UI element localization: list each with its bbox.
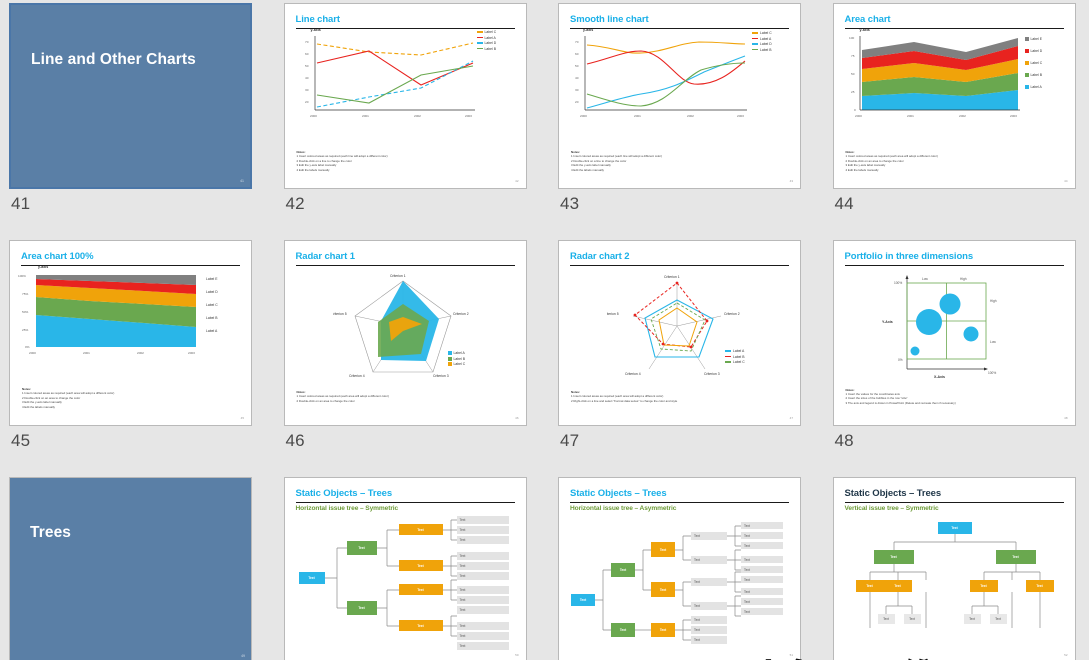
title-rule xyxy=(845,28,1064,29)
node-label: Text xyxy=(460,538,466,542)
tree-node-leaf[interactable]: Text xyxy=(904,614,921,624)
node-label: Text xyxy=(417,588,423,592)
y-axis-label: y-axis xyxy=(311,28,321,32)
node-label: Text xyxy=(951,526,957,530)
slide-page-marker: 41 xyxy=(240,179,244,183)
tree-node-leaf[interactable]: Text xyxy=(691,636,727,644)
svg-text:2001: 2001 xyxy=(634,114,641,118)
node-label: Text xyxy=(894,584,900,588)
svg-text:Criterion 4: Criterion 4 xyxy=(349,374,365,378)
smooth-line-chart-slide: Smooth line chart y-axis 70 60 50 4 xyxy=(559,4,800,188)
node-label: Text xyxy=(744,544,750,548)
svg-text:2001: 2001 xyxy=(83,351,90,355)
legend-item: Label B xyxy=(725,355,745,359)
tree-node-level2[interactable]: Text xyxy=(611,563,635,577)
title-rule xyxy=(21,265,240,266)
node-label: Text xyxy=(744,578,750,582)
svg-text:X-Axis: X-Axis xyxy=(934,375,945,379)
tree-node-leaf[interactable]: Text xyxy=(741,598,783,605)
slide-thumbnail-50[interactable]: Static Objects – Trees Horizontal issue … xyxy=(284,477,527,660)
node-label: Text xyxy=(460,598,466,602)
node-label: Text xyxy=(694,628,700,632)
legend-label: Label D xyxy=(1031,49,1043,53)
legend-item: Label A xyxy=(206,329,218,333)
node-label: Text xyxy=(1036,584,1042,588)
node-label: Text xyxy=(460,588,466,592)
notes-line: 1 Insert colored areas as required (each… xyxy=(297,394,389,399)
node-label: Text xyxy=(580,598,586,602)
tree-node-leaf[interactable]: Text xyxy=(691,616,727,624)
node-label: Text xyxy=(909,617,915,621)
legend-item: Label B xyxy=(477,47,497,51)
svg-text:2002: 2002 xyxy=(414,114,421,118)
slide-page-marker: 48 xyxy=(1064,416,1067,420)
node-label: Text xyxy=(969,617,975,621)
legend-swatch-label-b xyxy=(448,357,452,361)
svg-text:50%: 50% xyxy=(22,310,28,314)
svg-text:100%: 100% xyxy=(18,274,26,278)
svg-text:2001: 2001 xyxy=(907,114,914,118)
node-label: Text xyxy=(660,588,666,592)
tree-node-leaf[interactable]: Text xyxy=(457,516,509,524)
slide-cell-47[interactable]: Radar chart 2 Criterion 1 Crit xyxy=(558,240,806,472)
slide-notes: Notes: 1 Insert colored areas as require… xyxy=(297,390,389,403)
tree-node-level4[interactable]: Text xyxy=(691,578,727,586)
title-rule xyxy=(845,265,1064,266)
node-label: Text xyxy=(744,600,750,604)
svg-text:100: 100 xyxy=(849,36,854,40)
tree-node-level3[interactable]: Text xyxy=(399,620,443,631)
svg-text:60: 60 xyxy=(575,52,579,56)
title-rule xyxy=(296,28,515,29)
legend-swatch-label-c xyxy=(1025,61,1029,65)
tree-node-leaf[interactable]: Text xyxy=(964,614,981,624)
tree-node-root[interactable]: Text xyxy=(571,594,595,606)
notes-line: 4 Edit the labels manually xyxy=(297,168,388,173)
notes-line: 2 Right-click on a line and select "Form… xyxy=(571,399,677,404)
node-label: Text xyxy=(660,548,666,552)
tree-node-level3[interactable]: Text xyxy=(651,623,675,637)
tree-node-leaf[interactable]: Text xyxy=(691,626,727,634)
svg-text:Criterion 4: Criterion 4 xyxy=(625,372,641,376)
tree-node-leaf[interactable]: Text xyxy=(457,632,509,640)
slide-number-label: 46 xyxy=(286,431,532,451)
notes-line: 2 Double-click on an area to change the … xyxy=(297,399,389,404)
tree-node-leaf[interactable]: Text xyxy=(741,556,783,563)
line-chart-slide: Line chart y-axis 70 60 50 40 xyxy=(285,4,526,188)
svg-text:Criterion 3: Criterion 3 xyxy=(704,372,720,376)
slide-title: Smooth line chart xyxy=(570,14,789,25)
tree-node-level4[interactable]: Text xyxy=(691,532,727,540)
slide-page-marker: 43 xyxy=(790,179,793,183)
svg-text:60: 60 xyxy=(305,52,309,56)
tree-node-level3[interactable]: Text xyxy=(1026,580,1054,592)
svg-text:40: 40 xyxy=(305,76,309,80)
notes-line: 1 Insert colored areas as required (each… xyxy=(571,154,662,159)
slide-thumbnail-51[interactable]: Static Objects – Trees Horizontal issue … xyxy=(558,477,801,660)
slide-page-marker: 44 xyxy=(1064,179,1067,183)
node-label: Text xyxy=(744,590,750,594)
slide-number-label: 47 xyxy=(560,431,806,451)
slide-cell-51[interactable]: Static Objects – Trees Horizontal issue … xyxy=(558,477,806,660)
slide-cell-43[interactable]: Smooth line chart y-axis 70 60 50 4 xyxy=(558,3,806,235)
svg-text:30: 30 xyxy=(575,88,579,92)
node-label: Text xyxy=(1012,555,1018,559)
slide-cell-48[interactable]: Portfolio in three dimensions Low High xyxy=(833,240,1081,472)
section-divider-slide: Trees 49 xyxy=(10,478,251,660)
tree-node-level3[interactable]: Text xyxy=(399,584,443,595)
legend-item: Label E xyxy=(206,277,218,281)
chart-legend: Label C Label A Label D Label B xyxy=(477,30,497,52)
notes-line: 1 Insert colored areas as required (each… xyxy=(22,391,114,396)
legend-label: Label C xyxy=(206,303,218,307)
tree-node-level3[interactable]: Text xyxy=(856,580,884,592)
legend-item: Label A xyxy=(752,37,772,41)
smooth-line-chart-svg: 70 60 50 40 30 20 2000 2001 2002 2003 xyxy=(569,34,754,124)
slide-thumbnail-47[interactable]: Radar chart 2 Criterion 1 Crit xyxy=(558,240,801,426)
slide-notes: Notes: 1 Insert colored areas as require… xyxy=(846,150,938,172)
node-label: Text xyxy=(620,628,626,632)
svg-text:Criterion 5: Criterion 5 xyxy=(607,312,619,316)
legend-item: Label B xyxy=(448,357,466,361)
legend-label: Label C xyxy=(733,360,745,364)
node-label: Text xyxy=(417,624,423,628)
node-label: Text xyxy=(694,558,700,562)
legend-label: Label B xyxy=(733,355,745,359)
svg-text:40: 40 xyxy=(575,76,579,80)
legend-swatch-label-a xyxy=(477,37,483,38)
tree-node-leaf[interactable]: Text xyxy=(457,536,509,544)
legend-label: Label A xyxy=(206,329,217,333)
legend-item: Label C xyxy=(1025,61,1043,65)
tree-node-level2[interactable]: Text xyxy=(874,550,914,564)
svg-text:2000: 2000 xyxy=(29,351,36,355)
slide-page-marker: 47 xyxy=(790,416,793,420)
area-chart-slide: Area chart y-axis 100 75 50 xyxy=(834,4,1075,188)
tree-node-root[interactable]: Text xyxy=(938,522,972,534)
slide-title: Line and Other Charts xyxy=(31,51,196,69)
legend-item: Label B xyxy=(752,48,772,52)
node-label: Text xyxy=(417,564,423,568)
notes-line: 1 Insert colored areas as required (each… xyxy=(297,154,388,159)
node-label: Text xyxy=(460,624,466,628)
legend-item: Label C xyxy=(752,31,772,35)
svg-text:2003: 2003 xyxy=(737,114,744,118)
line-chart-svg: 70 60 50 40 30 20 2000 2001 2002 2003 xyxy=(299,34,479,124)
node-label: Text xyxy=(358,546,364,550)
slide-thumbnail-48[interactable]: Portfolio in three dimensions Low High xyxy=(833,240,1076,426)
slide-cell-49[interactable]: Trees 49 49 xyxy=(9,477,257,660)
legend-swatch-label-a xyxy=(752,38,758,39)
legend-label: Label C xyxy=(485,30,497,34)
svg-text:50: 50 xyxy=(575,64,579,68)
legend-label: Label C xyxy=(760,31,772,35)
svg-text:2003: 2003 xyxy=(188,351,195,355)
svg-text:100%: 100% xyxy=(988,371,996,375)
node-label: Text xyxy=(744,558,750,562)
tree-node-level3[interactable]: Text xyxy=(399,560,443,571)
slide-title: Portfolio in three dimensions xyxy=(845,251,1064,262)
legend-item: Label A xyxy=(1025,85,1043,89)
node-label: Text xyxy=(358,606,364,610)
node-label: Text xyxy=(744,534,750,538)
node-label: Text xyxy=(460,608,466,612)
legend-swatch-label-b xyxy=(752,49,758,50)
slide-notes: Notes: 1 Insert colored areas as require… xyxy=(571,150,662,172)
legend-label: Label D xyxy=(485,41,497,45)
legend-label: Label D xyxy=(760,42,772,46)
legend-label: Label A xyxy=(1031,85,1042,89)
node-label: Text xyxy=(660,628,666,632)
node-label: Text xyxy=(744,524,750,528)
slide-notes: Notes: 1 Insert colored areas as require… xyxy=(571,390,677,403)
node-label: Text xyxy=(744,568,750,572)
slide-thumbnail-42[interactable]: Line chart y-axis 70 60 50 40 xyxy=(284,3,527,189)
legend-swatch-label-d xyxy=(1025,49,1029,53)
chart-legend: Label A Label B Label C xyxy=(448,351,466,368)
node-label: Text xyxy=(460,528,466,532)
slide-number-label: 43 xyxy=(560,194,806,214)
node-label: Text xyxy=(460,634,466,638)
tree-node-leaf[interactable]: Text xyxy=(457,642,509,650)
node-label: Text xyxy=(866,584,872,588)
tree-vertical-symmetric-slide: Static Objects – Trees Vertical issue tr… xyxy=(834,478,1075,660)
chart-legend: Label E Label D Label C Label B Label A xyxy=(1025,37,1043,91)
svg-text:Criterion 1: Criterion 1 xyxy=(390,274,406,278)
legend-swatch-label-c xyxy=(752,32,758,33)
node-label: Text xyxy=(694,618,700,622)
legend-item: Label C xyxy=(725,360,745,364)
tree-node-leaf[interactable]: Text xyxy=(457,552,509,560)
tree-node-level3[interactable]: Text xyxy=(651,542,675,557)
node-label: Text xyxy=(995,617,1001,621)
legend-item: Label A xyxy=(725,349,745,353)
legend-label: Label D xyxy=(206,290,218,294)
slide-thumbnail-46[interactable]: Radar chart 1 Criterion 1 Criterion 2 Cr… xyxy=(284,240,527,426)
slide-thumbnail-52[interactable]: Static Objects – Trees Vertical issue tr… xyxy=(833,477,1076,660)
legend-item: Label B xyxy=(1025,73,1043,77)
legend-item: Label C xyxy=(206,303,218,307)
legend-swatch-label-a xyxy=(1025,85,1029,89)
slide-cell-41[interactable]: Line and Other Charts 41 41 xyxy=(9,3,257,235)
slide-page-marker: 50 xyxy=(515,653,518,657)
tree-node-leaf[interactable]: Text xyxy=(741,542,783,549)
svg-text:70: 70 xyxy=(305,40,309,44)
svg-text:Criterion 2: Criterion 2 xyxy=(453,312,469,316)
tree-node-root[interactable]: Text xyxy=(299,572,325,584)
portfolio-bubble-slide: Portfolio in three dimensions Low High xyxy=(834,241,1075,425)
tree-node-leaf[interactable]: Text xyxy=(457,596,509,604)
node-label: Text xyxy=(694,604,700,608)
title-rule xyxy=(570,28,789,29)
node-label: Text xyxy=(890,555,896,559)
slide-title: Line chart xyxy=(296,14,515,25)
svg-text:0: 0 xyxy=(854,108,856,112)
slide-thumbnail-44[interactable]: Area chart y-axis 100 75 50 xyxy=(833,3,1076,189)
slide-page-marker: 51 xyxy=(790,653,793,657)
slide-cell-45[interactable]: Area chart 100% y-axis 100% 75% 50% 25% xyxy=(9,240,257,472)
tree-node-level2[interactable]: Text xyxy=(347,601,377,615)
svg-text:Criterion 1: Criterion 1 xyxy=(664,275,680,279)
chart-plot-area: y-axis 100 75 50 25 0 2000 xyxy=(844,34,1024,124)
slide-thumbnail-41[interactable]: Line and Other Charts 41 xyxy=(9,3,252,189)
slide-title: Trees xyxy=(30,524,71,542)
legend-label: Label C xyxy=(1031,61,1043,65)
legend-swatch-label-a xyxy=(725,350,731,351)
svg-text:Low: Low xyxy=(990,340,997,344)
chart-plot-area: y-axis 100% 75% 50% 25% 0% 2000 2001 xyxy=(14,271,202,361)
slide-title: Radar chart 2 xyxy=(570,251,789,262)
legend-label: Label B xyxy=(485,47,497,51)
node-label: Text xyxy=(417,528,423,532)
legend-item: Label E xyxy=(1025,37,1043,41)
legend-item: Label D xyxy=(752,42,772,46)
slide-thumbnail-45[interactable]: Area chart 100% y-axis 100% 75% 50% 25% xyxy=(9,240,252,426)
tree-node-leaf[interactable]: Text xyxy=(457,562,509,570)
title-rule xyxy=(296,265,515,266)
tree-node-leaf[interactable]: Text xyxy=(741,566,783,573)
svg-text:2001: 2001 xyxy=(362,114,369,118)
slide-cell-50[interactable]: Static Objects – Trees Horizontal issue … xyxy=(284,477,532,660)
legend-item: Label D xyxy=(477,41,497,45)
svg-text:75%: 75% xyxy=(22,292,28,296)
radar-chart-2-slide: Radar chart 2 Criterion 1 Crit xyxy=(559,241,800,425)
svg-text:0%: 0% xyxy=(25,345,30,349)
area-chart-100-svg: 100% 75% 50% 25% 0% 2000 2001 2002 2003 xyxy=(14,271,202,361)
tree-horizontal-symmetric-slide: Static Objects – Trees Horizontal issue … xyxy=(285,478,526,660)
tree-node-level2[interactable]: Text xyxy=(611,623,635,637)
svg-text:0%: 0% xyxy=(898,358,903,362)
node-label: Text xyxy=(694,534,700,538)
node-label: Text xyxy=(744,610,750,614)
legend-swatch-label-e xyxy=(1025,37,1029,41)
chart-plot-area: y-axis 70 60 50 40 30 20 20 xyxy=(569,34,754,124)
slide-page-marker: 46 xyxy=(515,416,518,420)
radar-chart-1-slide: Radar chart 1 Criterion 1 Criterion 2 Cr… xyxy=(285,241,526,425)
slide-number-label: 45 xyxy=(11,431,257,451)
tree-node-level2[interactable]: Text xyxy=(347,541,377,555)
node-label: Text xyxy=(308,576,314,580)
legend-label: Label C xyxy=(454,362,466,366)
legend-label: Label A xyxy=(733,349,744,353)
svg-text:2002: 2002 xyxy=(137,351,144,355)
slide-thumbnail-43[interactable]: Smooth line chart y-axis 70 60 50 4 xyxy=(558,3,801,189)
tree-node-leaf[interactable]: Text xyxy=(741,608,783,615)
svg-text:20: 20 xyxy=(575,100,579,104)
svg-text:20: 20 xyxy=(305,100,309,104)
tree-node-leaf[interactable]: Text xyxy=(457,586,509,594)
legend-label: Label B xyxy=(206,316,218,320)
notes-line: 1 Insert colored areas as required (each… xyxy=(571,394,677,399)
section-divider-slide: Line and Other Charts 41 xyxy=(11,5,250,187)
chart-legend: Label E Label D Label C Label B Label A xyxy=(206,277,218,335)
title-rule xyxy=(570,265,789,266)
svg-text:2000: 2000 xyxy=(580,114,587,118)
svg-text:100%: 100% xyxy=(894,281,902,285)
node-label: Text xyxy=(980,584,986,588)
node-label: Text xyxy=(460,574,466,578)
node-label: Text xyxy=(883,617,889,621)
node-label: Text xyxy=(694,638,700,642)
svg-text:30: 30 xyxy=(305,88,309,92)
tree-node-level3[interactable]: Text xyxy=(399,524,443,535)
svg-text:2000: 2000 xyxy=(855,114,862,118)
area-chart-svg: 100 75 50 25 0 2000 2001 2002 2003 xyxy=(844,34,1024,124)
tree-node-leaf[interactable]: Text xyxy=(741,588,783,595)
node-label: Text xyxy=(460,518,466,522)
slide-notes: Notes: 1 Insert colored areas as require… xyxy=(297,150,388,172)
tree-node-leaf[interactable]: Text xyxy=(457,606,509,614)
slide-cell-44[interactable]: Area chart y-axis 100 75 50 xyxy=(833,3,1081,235)
slide-cell-46[interactable]: Radar chart 1 Criterion 1 Criterion 2 Cr… xyxy=(284,240,532,472)
svg-text:2003: 2003 xyxy=(1010,114,1017,118)
svg-text:Y-Axis: Y-Axis xyxy=(882,320,893,324)
slide-title: Area chart xyxy=(845,14,1064,25)
legend-item: Label A xyxy=(448,351,466,355)
tree-node-leaf[interactable]: Text xyxy=(457,526,509,534)
legend-label: Label E xyxy=(206,277,218,281)
legend-swatch-label-b xyxy=(477,48,483,49)
slide-cell-52[interactable]: Static Objects – Trees Vertical issue tr… xyxy=(833,477,1081,660)
tree-node-leaf[interactable]: Text xyxy=(457,622,509,630)
tree-node-level3[interactable]: Text xyxy=(651,582,675,597)
legend-swatch-label-c xyxy=(477,31,483,32)
svg-text:Criterion 2: Criterion 2 xyxy=(724,312,740,316)
legend-swatch-label-c xyxy=(448,362,452,366)
legend-swatch-label-d xyxy=(477,42,483,43)
y-axis-label: y-axis xyxy=(860,28,870,32)
svg-text:Criterion 3: Criterion 3 xyxy=(433,374,449,378)
node-label: Text xyxy=(460,554,466,558)
tree-node-level4[interactable]: Text xyxy=(691,556,727,564)
tree-node-leaf[interactable]: Text xyxy=(457,572,509,580)
slide-page-marker: 52 xyxy=(1064,653,1067,657)
tree-node-level4[interactable]: Text xyxy=(691,602,727,610)
slide-number-label: 42 xyxy=(286,194,532,214)
tree-node-level2[interactable]: Text xyxy=(996,550,1036,564)
tree-node-leaf[interactable]: Text xyxy=(741,532,783,539)
notes-line: 3 The axis and legend is drawn in PowerP… xyxy=(846,401,956,406)
slide-number-label: 44 xyxy=(835,194,1081,214)
slide-cell-42[interactable]: Line chart y-axis 70 60 50 40 xyxy=(284,3,532,235)
tree-node-leaf[interactable]: Text xyxy=(990,614,1007,624)
svg-text:70: 70 xyxy=(575,40,579,44)
legend-label: Label E xyxy=(1031,37,1043,41)
tree-node-leaf[interactable]: Text xyxy=(741,576,783,583)
slide-page-marker: 49 xyxy=(241,654,245,658)
slide-number-label: 48 xyxy=(835,431,1081,451)
tree-node-level3[interactable]: Text xyxy=(970,580,998,592)
svg-text:High: High xyxy=(960,277,967,281)
tree-node-level3[interactable]: Text xyxy=(884,580,912,592)
node-label: Text xyxy=(460,644,466,648)
slide-thumbnail-49[interactable]: Trees 49 xyxy=(9,477,252,660)
tree-node-leaf[interactable]: Text xyxy=(741,522,783,529)
tree-node-leaf[interactable]: Text xyxy=(878,614,895,624)
slide-sorter-grid: Line and Other Charts 41 41 Line chart y… xyxy=(0,0,1089,660)
area-chart-100-slide: Area chart 100% y-axis 100% 75% 50% 25% xyxy=(10,241,251,425)
slide-title: Radar chart 1 xyxy=(296,251,515,262)
notes-line: 4 Edit the labels manually xyxy=(846,168,938,173)
svg-text:2002: 2002 xyxy=(959,114,966,118)
legend-swatch-label-b xyxy=(725,356,731,357)
notes-line: 4 Edit the labels manually xyxy=(571,168,662,173)
legend-item: Label C xyxy=(477,30,497,34)
legend-item: Label D xyxy=(1025,49,1043,53)
y-axis-label: y-axis xyxy=(583,28,593,32)
notes-line: 4 Edit the labels manually xyxy=(22,405,114,410)
svg-text:Low: Low xyxy=(922,277,929,281)
